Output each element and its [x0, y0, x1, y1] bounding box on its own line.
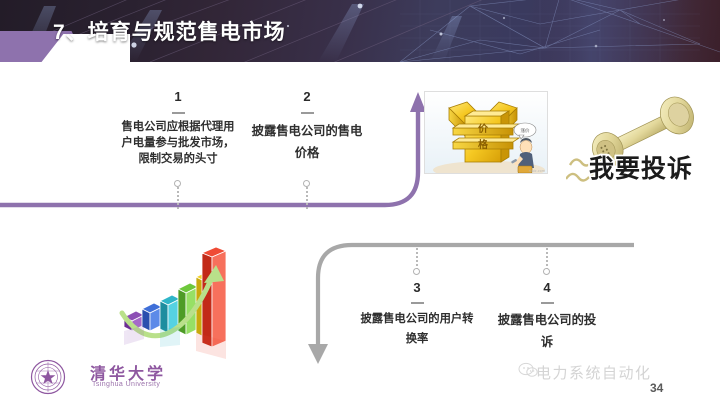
timeline-stem-3	[416, 248, 418, 270]
timeline-node-4	[543, 268, 550, 275]
watermark-text: 电力系统自动化	[536, 362, 652, 383]
page-title: 7、培育与规范售电市场	[53, 16, 286, 46]
timeline-divider-3	[411, 302, 424, 304]
timeline-stem-4	[546, 248, 548, 270]
timeline-text-4: 披露售电公司的投诉	[493, 310, 601, 353]
page-number: 34	[650, 381, 663, 395]
timeline-divider-4	[541, 302, 554, 304]
tsinghua-logo: 清华大学 Tsinghua University	[28, 358, 178, 396]
tsinghua-logo-en: Tsinghua University	[92, 381, 160, 388]
slide-header: 7、培育与规范售电市场	[0, 0, 720, 62]
wechat-icon	[518, 362, 538, 378]
timeline-number-3: 3	[397, 280, 437, 295]
growth-chart-illustration	[100, 247, 240, 372]
tsinghua-seal-icon	[28, 358, 70, 396]
timeline-text-3: 披露售电公司的用户转换率	[358, 310, 476, 350]
timeline-number-4: 4	[527, 280, 567, 295]
timeline-node-3	[413, 268, 420, 275]
slide-body: 1 售电公司应根据代理用户电量参与批发市场，限制交易的头寸 2 披露售电公司的售…	[0, 62, 720, 405]
